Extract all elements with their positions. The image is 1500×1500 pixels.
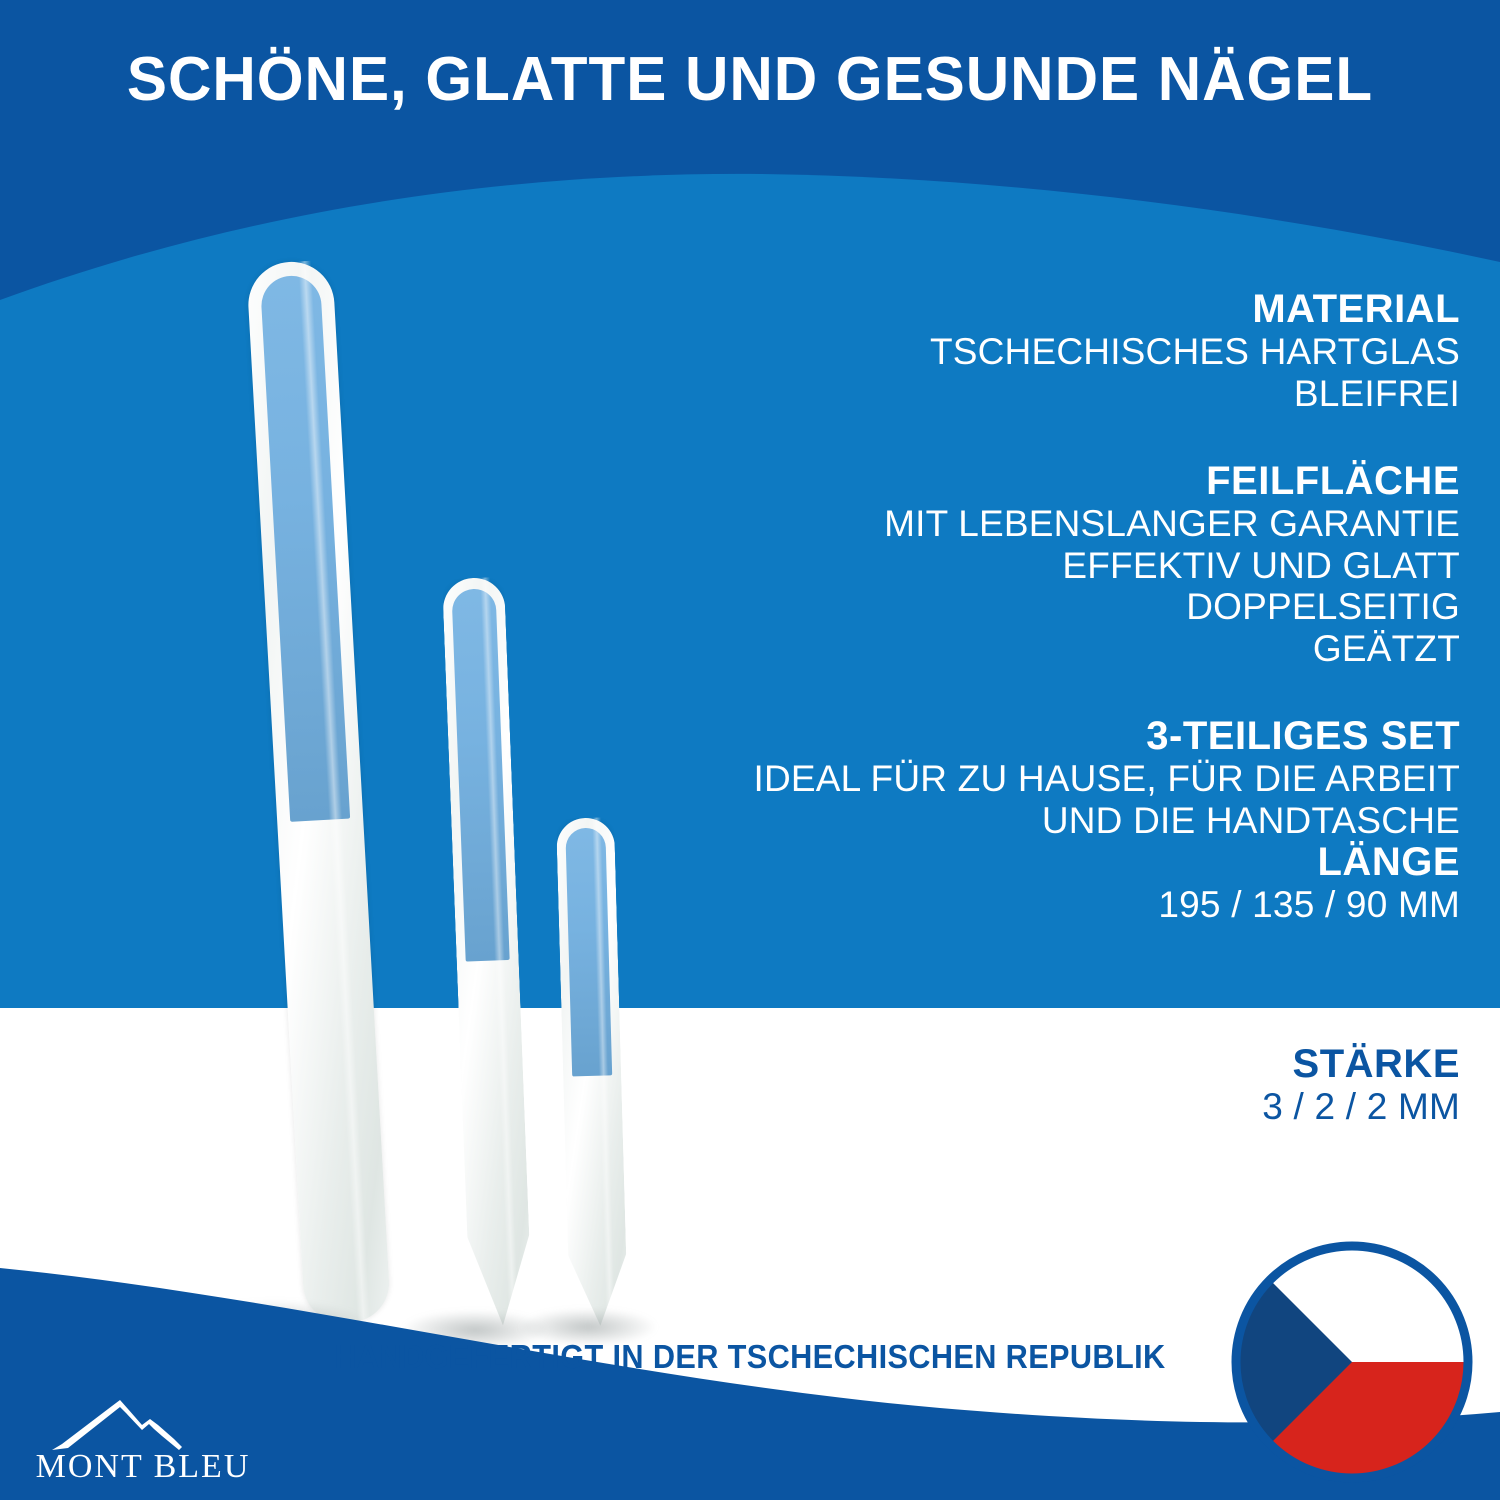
spec-block-set: 3-TEILIGES SET IDEAL FÜR ZU HAUSE, FÜR D… (720, 715, 1460, 926)
spec-line-laenge-0: 195 / 135 / 90 MM (720, 884, 1460, 925)
spec-block-staerke: STÄRKE 3 / 2 / 2 MM (720, 1042, 1460, 1129)
spec-line-material-1: BLEIFREI (720, 373, 1460, 414)
czech-flag-circle-icon (1228, 1238, 1476, 1486)
brand-name: MONT BLEU (28, 1448, 258, 1486)
spec-line-set-0: IDEAL FÜR ZU HAUSE, FÜR DIE ARBEIT (720, 758, 1460, 799)
spec-heading-material: MATERIAL (720, 288, 1460, 331)
spec-list: MATERIAL TSCHECHISCHES HARTGLAS BLEIFREI… (720, 288, 1460, 926)
spec-heading-laenge: LÄNGE (720, 841, 1460, 884)
spec-heading-feilflaeche: FEILFLÄCHE (720, 460, 1460, 503)
spec-line-staerke-0: 3 / 2 / 2 MM (720, 1086, 1460, 1129)
mountain-icon (50, 1392, 240, 1454)
spec-heading-set: 3-TEILIGES SET (720, 715, 1460, 758)
spec-block-material: MATERIAL TSCHECHISCHES HARTGLAS BLEIFREI (720, 288, 1460, 414)
page-title: SCHÖNE, GLATTE UND GESUNDE NÄGEL (23, 44, 1478, 115)
spec-line-feilflaeche-3: GEÄTZT (720, 628, 1460, 669)
product-infographic: SCHÖNE, GLATTE UND GESUNDE NÄGEL MATERIA… (0, 0, 1500, 1500)
spec-line-feilflaeche-0: MIT LEBENSLANGER GARANTIE (720, 503, 1460, 544)
brand-logo: MONT BLEU (28, 1392, 258, 1492)
spec-heading-staerke: STÄRKE (720, 1042, 1460, 1086)
spec-line-material-0: TSCHECHISCHES HARTGLAS (720, 331, 1460, 372)
spec-block-feilflaeche: FEILFLÄCHE MIT LEBENSLANGER GARANTIE EFF… (720, 460, 1460, 669)
spec-line-feilflaeche-2: DOPPELSEITIG (720, 586, 1460, 627)
spec-line-feilflaeche-1: EFFEKTIV UND GLATT (720, 545, 1460, 586)
spec-line-set-1: UND DIE HANDTASCHE (720, 800, 1460, 841)
